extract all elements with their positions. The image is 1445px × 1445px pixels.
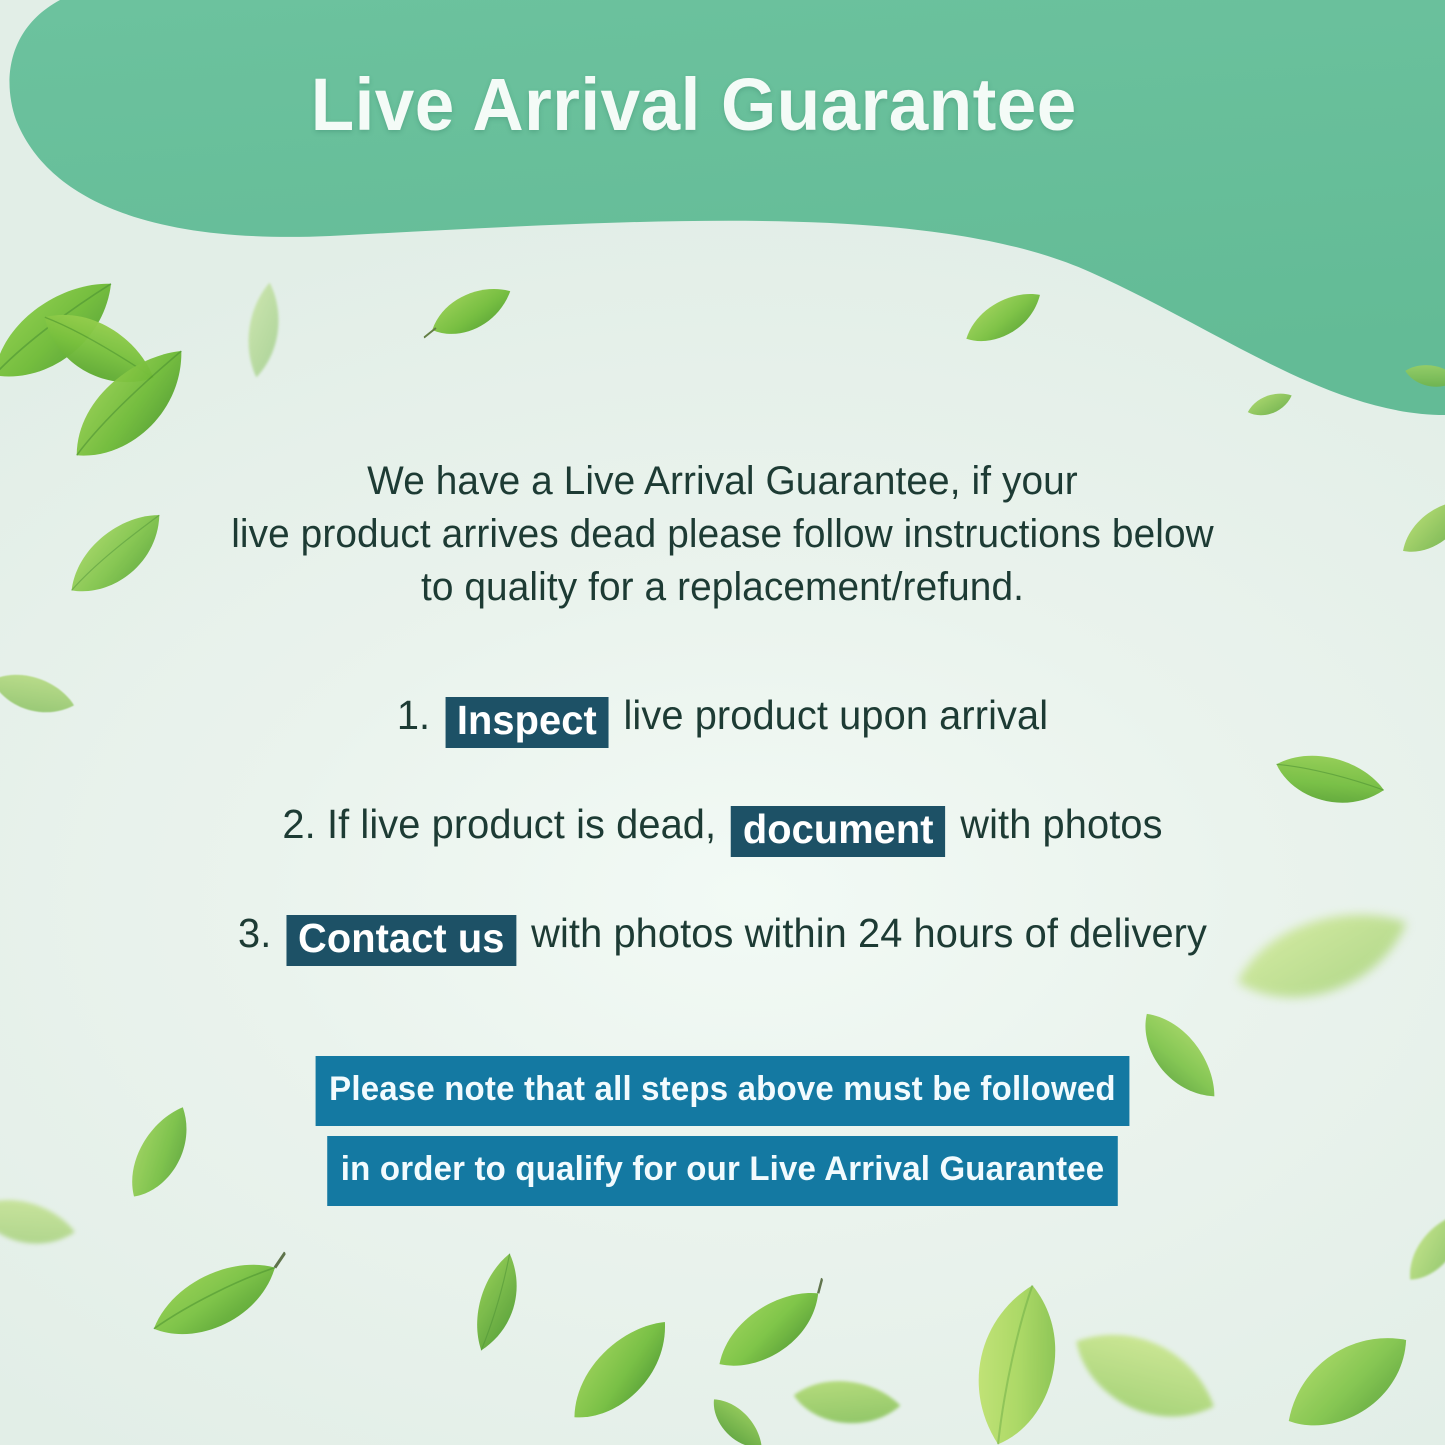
leaf-icon [1034,1275,1247,1445]
leaf-icon [225,276,300,384]
leaf-icon [914,1257,1135,1445]
leaf-icon [136,1238,304,1364]
note-line-1: Please note that all steps above must be… [316,1056,1130,1126]
leaf-icon [1241,385,1298,428]
leaf-icon [694,1266,852,1399]
step-text-after-1: live product upon arrival [623,692,1048,738]
intro-line-1: We have a Live Arrival Guarantee, if you… [22,455,1424,508]
intro-paragraph: We have a Live Arrival Guarantee, if you… [22,455,1424,615]
steps-list: 1. Inspect live product upon arrival 2. … [0,691,1445,961]
poster-canvas: Live Arrival Guarantee [0,0,1445,1445]
intro-line-3: to quality for a replacement/refund. [22,561,1424,614]
leaf-icon [1394,345,1445,408]
step-item-2: 2. If live product is dead, document wit… [22,800,1424,852]
intro-line-2: live product arrives dead please follow … [22,508,1424,561]
content-area: We have a Live Arrival Guarantee, if you… [0,455,1445,1206]
leaf-icon [1258,1303,1442,1445]
step-number-2: 2. [282,801,315,847]
step-highlight-inspect: Inspect [445,697,608,748]
leaf-icon [691,1379,779,1445]
notes-block: Please note that all steps above must be… [0,1056,1445,1206]
step-item-3: 3. Contact us with photos within 24 hour… [22,909,1424,961]
leaf-icon [11,271,178,435]
leaf-icon [948,277,1058,365]
note-line-2: in order to qualify for our Live Arrival… [327,1136,1118,1206]
step-text-after-2: with photos [960,801,1162,847]
page-title: Live Arrival Guarantee [29,68,1416,142]
leaf-icon [414,271,524,358]
leaf-icon [1382,1196,1445,1304]
step-number-1: 1. [397,692,430,738]
step-text-after-3: with photos within 24 hours of delivery [531,910,1207,956]
leaf-icon [539,1296,707,1445]
step-text-before-2: If live product is dead, [327,801,716,847]
step-highlight-document: document [731,806,945,857]
leaf-icon [0,250,148,421]
step-highlight-contact-us: Contact us [286,915,516,966]
step-item-1: 1. Inspect live product upon arrival [22,691,1424,743]
step-number-3: 3. [238,910,271,956]
leaf-icon [458,1245,537,1360]
leaf-icon [779,1345,911,1445]
